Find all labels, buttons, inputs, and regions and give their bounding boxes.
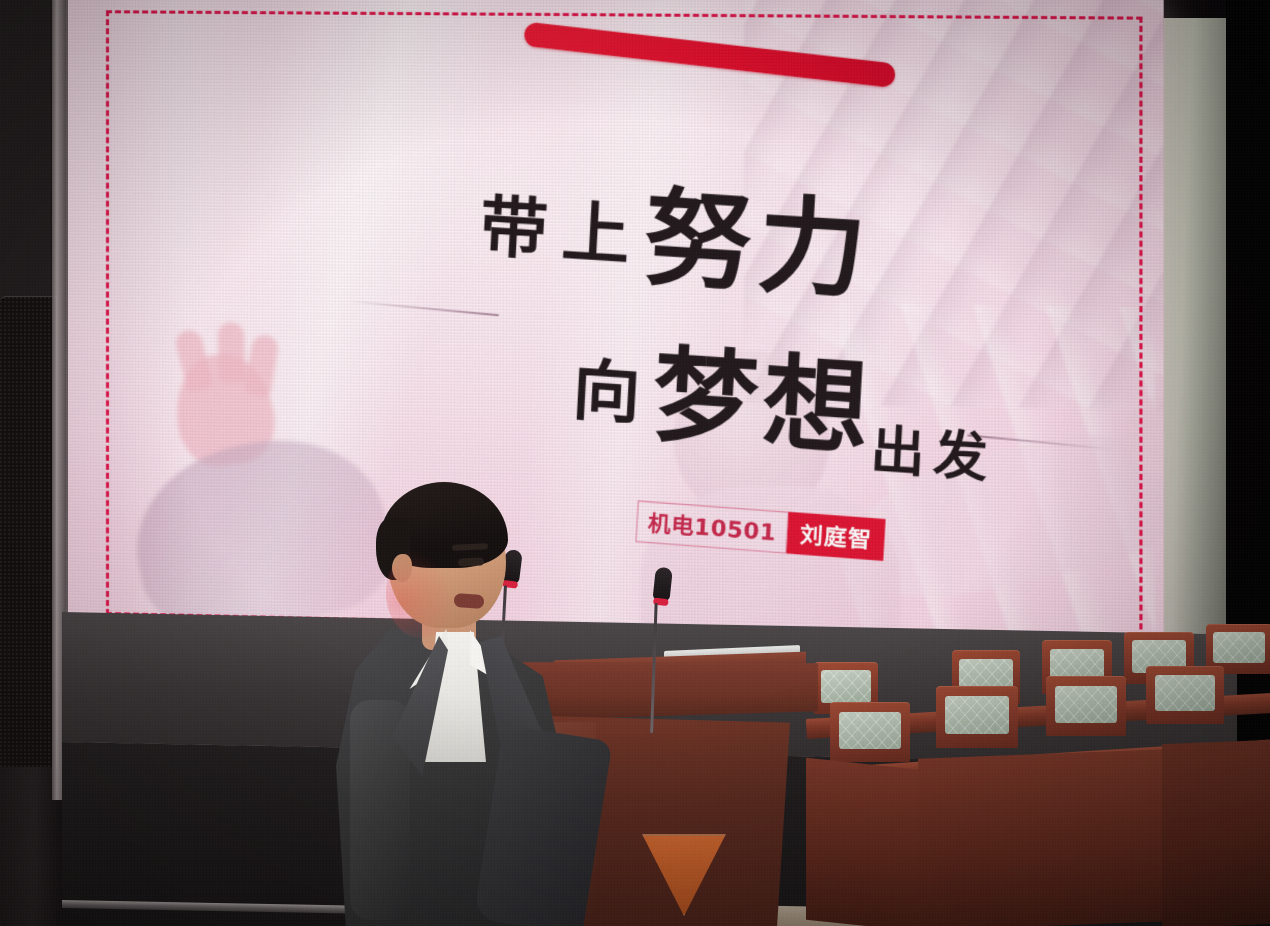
presenter-eye — [458, 557, 484, 566]
badge-name-label: 刘庭智 — [786, 512, 885, 561]
desk-front-center — [918, 749, 1168, 926]
seat — [830, 702, 910, 762]
left-loudspeaker-grille — [0, 296, 57, 767]
audience-seating — [806, 614, 1270, 926]
presenter-ear — [392, 554, 412, 582]
desk-front-right — [1162, 740, 1270, 926]
seat — [1046, 676, 1126, 736]
presenter — [330, 470, 660, 926]
desk-front-left — [806, 758, 926, 926]
left-speaker-cabinet-top — [0, 0, 50, 300]
presenter-mouth — [454, 593, 485, 609]
screenshot-root: 带上努力 向梦想出发 机电10501 刘庭智 — [0, 0, 1270, 926]
seat — [1146, 666, 1224, 724]
seat — [936, 686, 1018, 748]
